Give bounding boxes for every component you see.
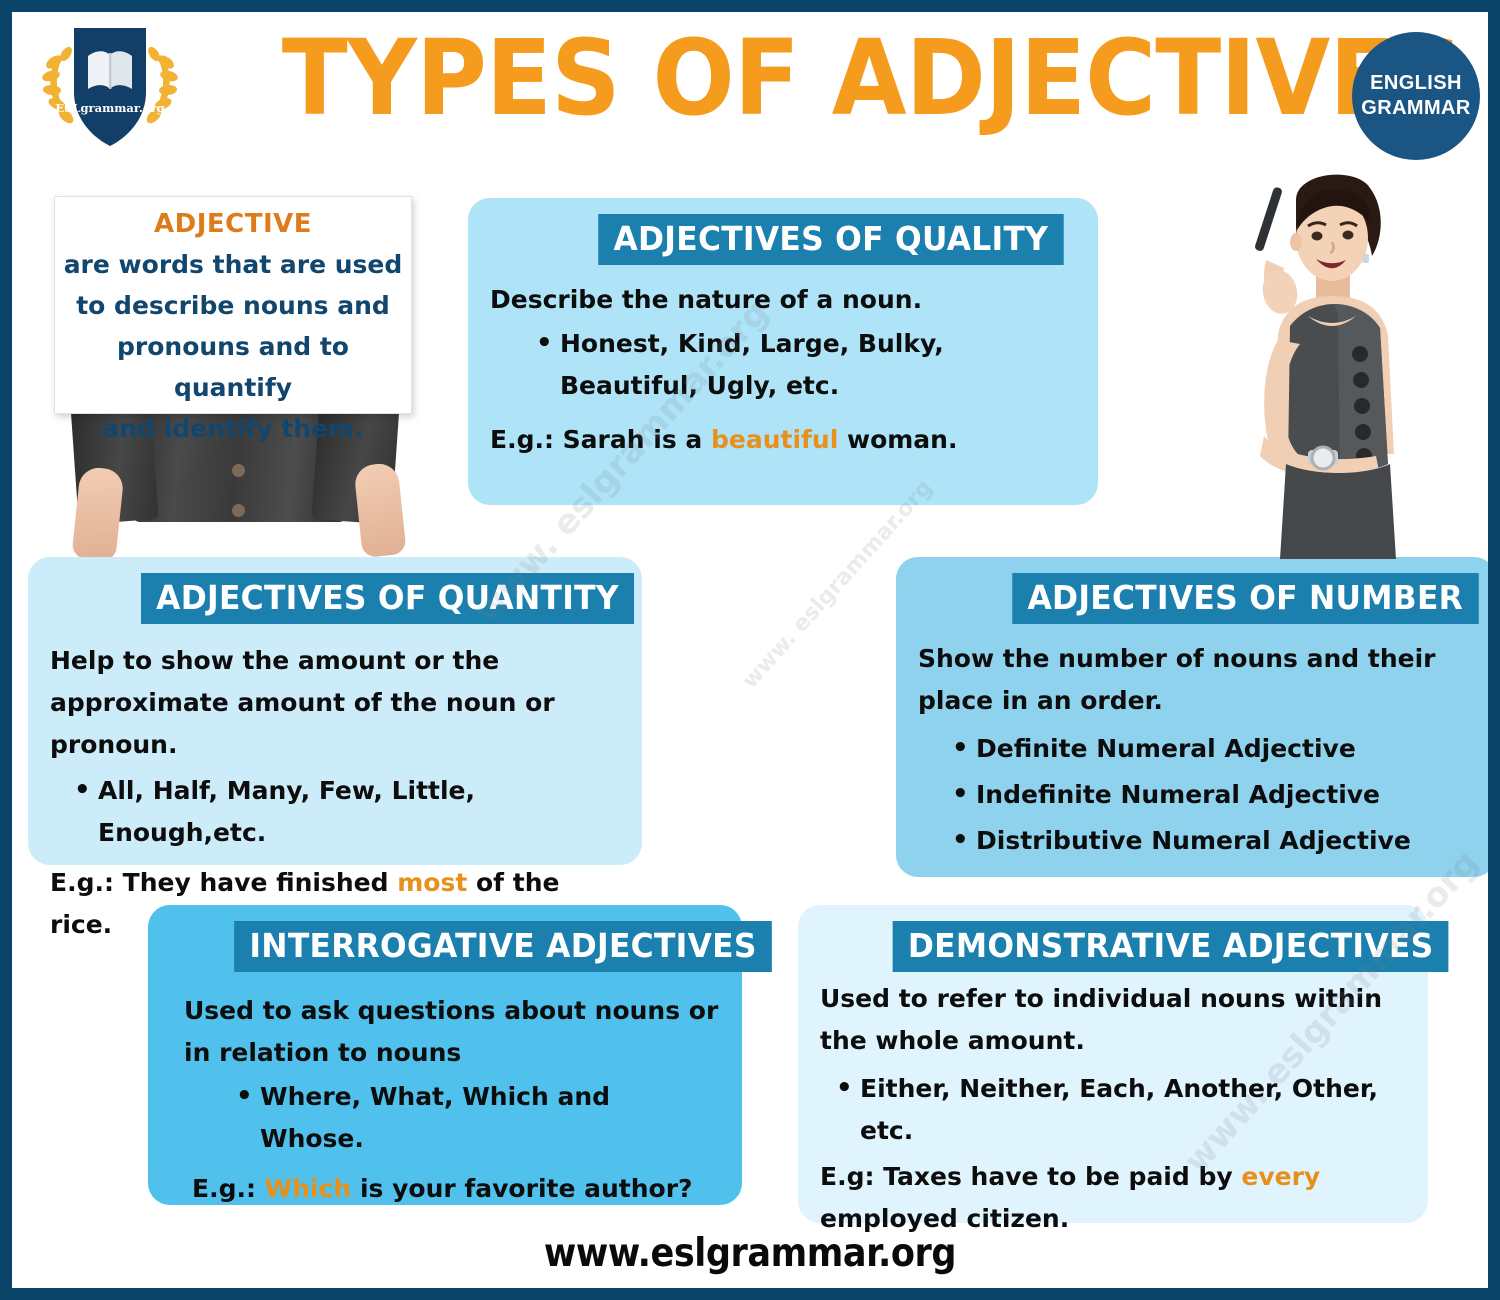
example-prefix: E.g: Taxes have to be paid by bbox=[820, 1162, 1241, 1191]
badge-line-2: GRAMMAR bbox=[1361, 96, 1470, 121]
card-interrogative-bullet-list: Where, What, Which and Whose. bbox=[234, 1076, 720, 1160]
definition-title: ADJECTIVE bbox=[63, 209, 403, 239]
definition-sign-card: ADJECTIVE are words that are used to des… bbox=[54, 196, 412, 414]
list-item: Either, Neither, Each, Another, Other, e… bbox=[834, 1068, 1406, 1152]
suit-button bbox=[232, 464, 245, 477]
card-quality-bullet-list: Honest, Kind, Large, Bulky, Beautiful, U… bbox=[534, 323, 1076, 407]
eslgrammar-logo: ESLgrammar.org bbox=[30, 20, 190, 160]
example-highlight: every bbox=[1241, 1162, 1320, 1191]
list-item: Honest, Kind, Large, Bulky, Beautiful, U… bbox=[534, 323, 1076, 407]
adjective-definition-block: ADJECTIVE are words that are used to des… bbox=[40, 182, 440, 522]
example-suffix: is your favorite author? bbox=[351, 1174, 692, 1203]
card-demonstrative-header: DEMONSTRATIVE ADJECTIVES bbox=[893, 921, 1449, 972]
suit-button bbox=[232, 504, 245, 517]
hand-right-icon bbox=[353, 462, 406, 558]
poster-header: ESLgrammar.org TYPES OF ADJECTIVES ENGLI… bbox=[12, 12, 1488, 167]
card-number-header: ADJECTIVES OF NUMBER bbox=[1012, 573, 1478, 624]
example-prefix: E.g.: Sarah is a bbox=[490, 425, 711, 454]
open-book-shield-laurel-icon: ESLgrammar.org bbox=[30, 20, 190, 160]
list-item: Where, What, Which and Whose. bbox=[234, 1076, 720, 1160]
card-adjectives-of-quantity: ADJECTIVES OF QUANTITY Help to show the … bbox=[28, 557, 642, 865]
definition-line-1: are words that are used bbox=[63, 244, 403, 285]
card-quantity-bullet-list: All, Half, Many, Few, Little, Enough,etc… bbox=[72, 770, 620, 854]
pen-icon bbox=[1254, 186, 1283, 252]
example-highlight: most bbox=[397, 868, 467, 897]
infographic-poster: ESLgrammar.org TYPES OF ADJECTIVES ENGLI… bbox=[0, 0, 1500, 1300]
definition-line-4: and identify them. bbox=[63, 408, 403, 449]
example-highlight: beautiful bbox=[711, 425, 838, 454]
card-quality-example: E.g.: Sarah is a beautiful woman. bbox=[490, 419, 1076, 461]
card-interrogative-lead: Used to ask questions about nouns or in … bbox=[184, 990, 720, 1074]
card-number-bullet-list: Definite Numeral Adjective Indefinite Nu… bbox=[950, 726, 1474, 864]
list-item: Definite Numeral Adjective bbox=[950, 726, 1474, 772]
card-interrogative-adjectives: INTERROGATIVE ADJECTIVES Used to ask que… bbox=[148, 905, 742, 1205]
list-item: Indefinite Numeral Adjective bbox=[950, 772, 1474, 818]
card-quality-header: ADJECTIVES OF QUALITY bbox=[598, 214, 1063, 265]
card-number-lead: Show the number of nouns and their place… bbox=[918, 638, 1474, 722]
badge-line-1: ENGLISH bbox=[1370, 71, 1462, 96]
card-interrogative-header: INTERROGATIVE ADJECTIVES bbox=[234, 921, 772, 972]
hand-left-icon bbox=[71, 466, 124, 562]
card-adjectives-of-number: ADJECTIVES OF NUMBER Show the number of … bbox=[896, 557, 1496, 877]
card-demonstrative-example: E.g: Taxes have to be paid by every empl… bbox=[820, 1156, 1406, 1240]
example-prefix: E.g.: They have finished bbox=[50, 868, 397, 897]
footer-url: www.eslgrammar.org bbox=[86, 1231, 1414, 1276]
card-quantity-lead: Help to show the amount or the approxima… bbox=[50, 640, 620, 766]
woman-with-pen-illustration bbox=[1204, 164, 1474, 559]
definition-line-3: pronouns and to quantify bbox=[63, 326, 403, 408]
example-highlight: Which bbox=[265, 1174, 352, 1203]
example-suffix: employed citizen. bbox=[820, 1204, 1069, 1233]
card-adjectives-of-quality: ADJECTIVES OF QUALITY Describe the natur… bbox=[468, 198, 1098, 505]
card-demonstrative-adjectives: DEMONSTRATIVE ADJECTIVES Used to refer t… bbox=[798, 905, 1428, 1223]
card-interrogative-example: E.g.: Which is your favorite author? bbox=[192, 1168, 720, 1210]
example-prefix: E.g.: bbox=[192, 1174, 265, 1203]
card-demonstrative-lead: Used to refer to individual nouns within… bbox=[820, 978, 1406, 1062]
example-suffix: woman. bbox=[838, 425, 957, 454]
page-title: TYPES OF ADJECTIVES bbox=[282, 18, 1286, 138]
logo-text: ESLgrammar.org bbox=[55, 101, 164, 115]
card-quantity-header: ADJECTIVES OF QUANTITY bbox=[141, 573, 634, 624]
list-item: All, Half, Many, Few, Little, Enough,etc… bbox=[72, 770, 620, 854]
definition-line-2: to describe nouns and bbox=[63, 285, 403, 326]
card-demonstrative-bullet-list: Either, Neither, Each, Another, Other, e… bbox=[834, 1068, 1406, 1152]
english-grammar-badge: ENGLISH GRAMMAR bbox=[1352, 32, 1480, 160]
card-quality-lead: Describe the nature of a noun. bbox=[490, 279, 1076, 321]
list-item: Distributive Numeral Adjective bbox=[950, 818, 1474, 864]
